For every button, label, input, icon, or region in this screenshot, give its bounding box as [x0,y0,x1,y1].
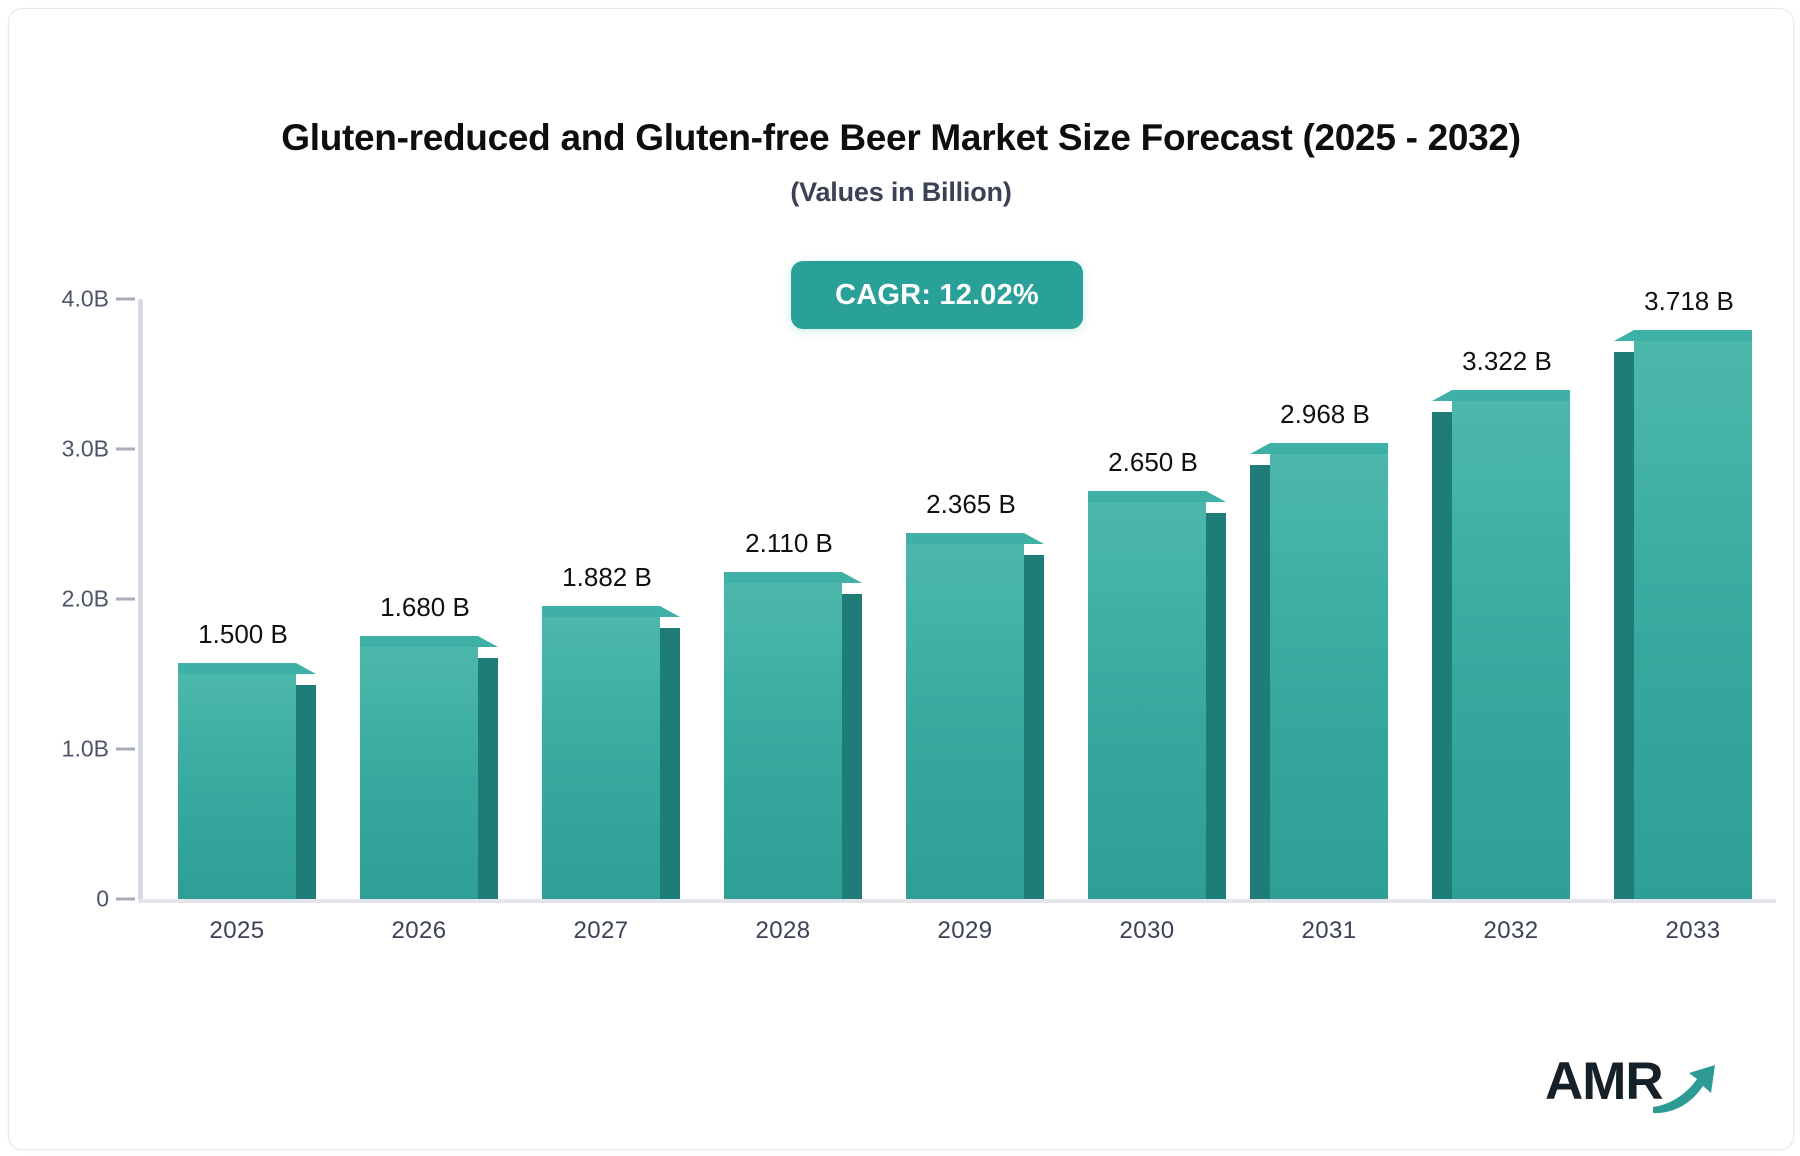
bar-top-bevel [1088,491,1226,502]
bar-side-shadow [1432,412,1452,899]
amr-logo: AMR [1545,1049,1725,1125]
bar-top-bevel [1432,390,1570,401]
y-axis-tick-mark [116,898,135,901]
bar-value-label: 1.882 B [477,562,737,593]
bar-top-bevel [178,663,316,674]
y-axis-tick-mark [116,298,135,301]
bar-side-shadow [296,685,316,899]
y-axis-tick-mark [116,748,135,751]
bar-side-shadow [1250,465,1270,899]
bar-2033[interactable] [1634,341,1752,899]
growth-arrow-icon [1545,1049,1725,1125]
y-axis-tick-mark [116,598,135,601]
bar-2030[interactable] [1088,502,1206,900]
bar-2029[interactable] [906,544,1024,899]
bar-value-label: 2.968 B [1195,399,1455,430]
bar-face [360,647,478,899]
y-axis-tick-label: 3.0B [8,436,109,463]
bar-side-shadow [842,594,862,900]
bar-2027[interactable] [542,617,660,899]
bar-2028[interactable] [724,583,842,900]
bar-value-label: 2.365 B [841,489,1101,520]
x-axis-tick-label-2031: 2031 [1302,917,1357,945]
bar-top-bevel [906,533,1044,544]
y-axis-tick-label: 0 [8,886,109,913]
bar-side-shadow [1614,352,1634,899]
x-axis-tick-label-2030: 2030 [1120,917,1175,945]
bar-top-bevel [360,636,498,647]
x-axis-tick-label-2029: 2029 [938,917,993,945]
bar-2026[interactable] [360,647,478,899]
bar-face [724,583,842,900]
bar-2031[interactable] [1270,454,1388,899]
bar-side-shadow [478,658,498,899]
bar-side-shadow [1024,555,1044,899]
y-axis-tick-label: 1.0B [8,736,109,763]
bar-face [1634,341,1752,899]
y-axis-line [138,299,143,903]
x-axis-tick-label-2025: 2025 [210,917,265,945]
x-axis-tick-label-2026: 2026 [392,917,447,945]
bar-face [1088,502,1206,900]
chart-card: Gluten-reduced and Gluten-free Beer Mark… [8,8,1794,1150]
bar-top-bevel [724,572,862,583]
y-axis-tick-label: 2.0B [8,586,109,613]
x-axis-line [138,899,1776,903]
bar-value-label: 1.500 B [113,619,373,650]
y-axis-tick-mark [116,448,135,451]
x-axis-tick-label-2028: 2028 [756,917,811,945]
bar-top-bevel [1250,443,1388,454]
bar-face [178,674,296,899]
bar-2032[interactable] [1452,401,1570,899]
bar-face [1452,401,1570,899]
x-axis-tick-label-2032: 2032 [1484,917,1539,945]
y-axis-tick-label: 4.0B [8,286,109,313]
x-axis-tick-label-2033: 2033 [1666,917,1721,945]
bar-value-label: 3.322 B [1377,346,1637,377]
bar-top-bevel [1614,330,1752,341]
bar-value-label: 2.650 B [1023,447,1283,478]
bar-side-shadow [660,628,680,899]
bar-face [542,617,660,899]
bar-value-label: 2.110 B [659,528,919,559]
bar-2025[interactable] [178,674,296,899]
plot-area: 01.0B2.0B3.0B4.0B1.500 B20251.680 B20261… [9,9,1793,1149]
bar-face [906,544,1024,899]
bar-face [1270,454,1388,899]
bar-value-label: 3.718 B [1559,286,1794,317]
bar-side-shadow [1206,513,1226,900]
bar-top-bevel [542,606,680,617]
bar-value-label: 1.680 B [295,592,555,623]
x-axis-tick-label-2027: 2027 [574,917,629,945]
